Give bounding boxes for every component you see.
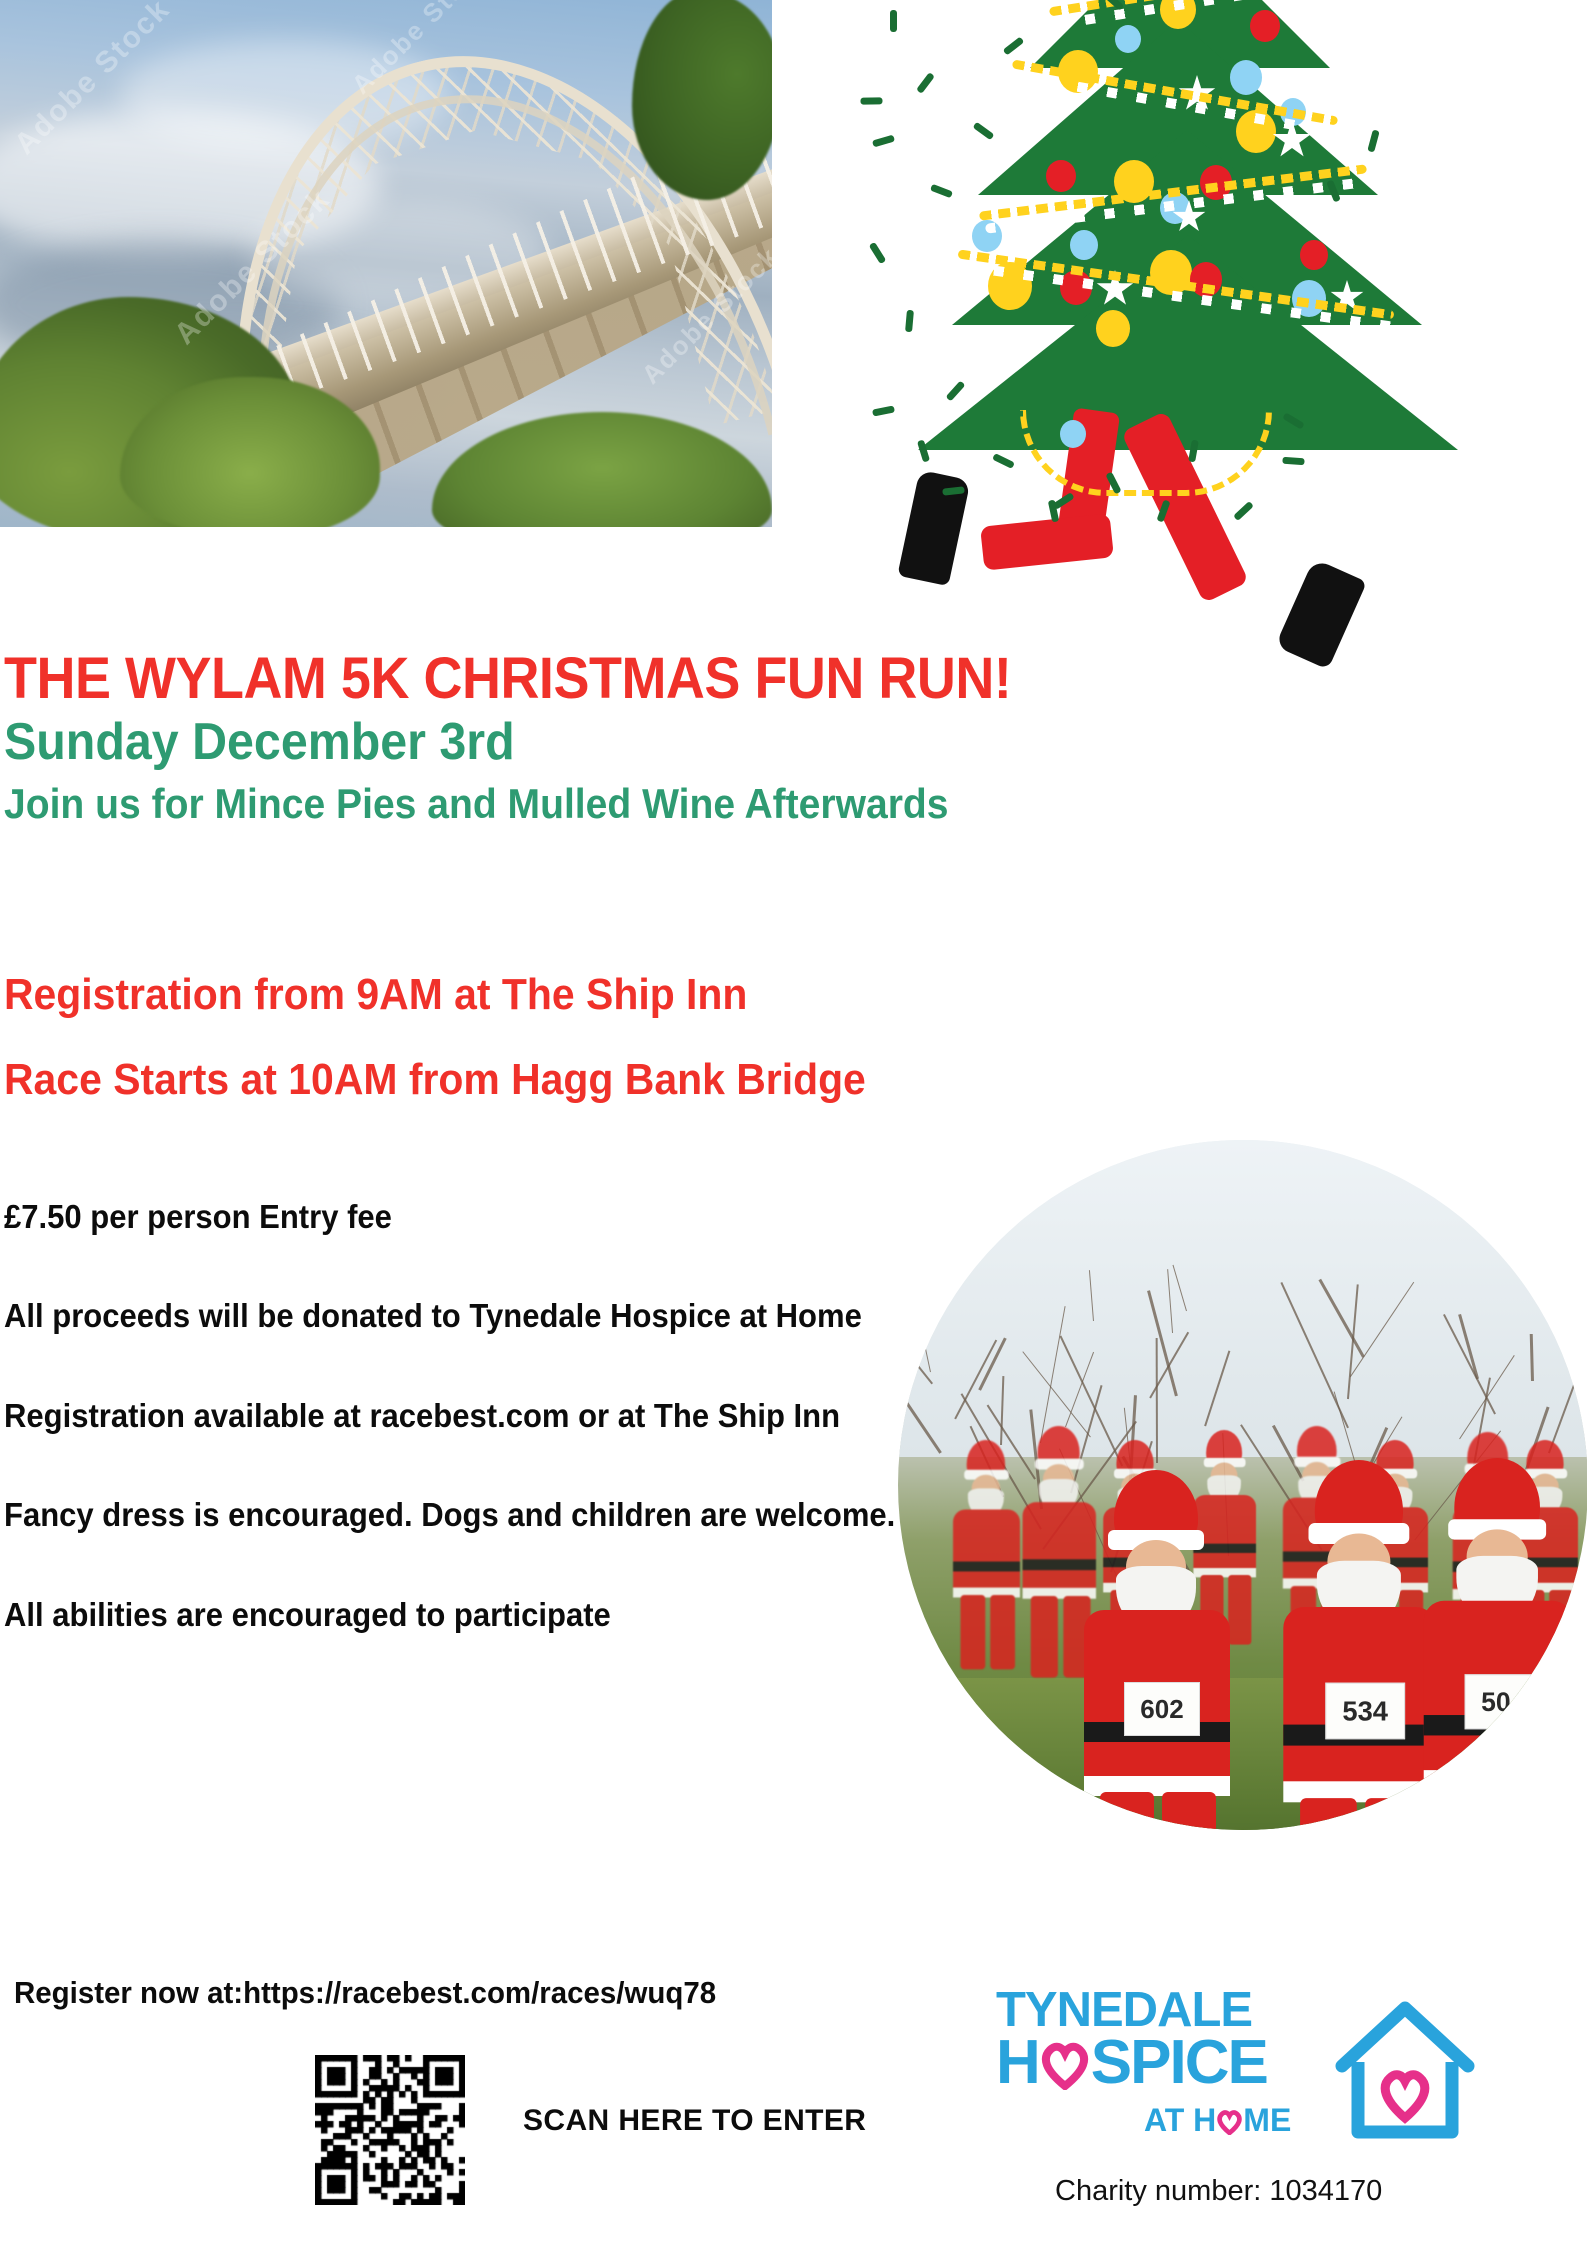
race-bib-number: 602 xyxy=(1140,1694,1183,1725)
confetti-fleck xyxy=(905,310,914,333)
confetti-fleck xyxy=(872,135,895,148)
tree-light-string xyxy=(1020,410,1272,496)
race-bib-number: 534 xyxy=(1342,1695,1388,1728)
logo-me-letters: ME xyxy=(1243,2102,1291,2138)
confetti-fleck xyxy=(872,405,895,416)
body-line-fancy-dress: Fancy dress is encouraged. Dogs and chil… xyxy=(4,1488,906,1541)
body-line-proceeds: All proceeds will be donated to Tynedale… xyxy=(4,1289,906,1342)
poster-tagline: Join us for Mince Pies and Mulled Wine A… xyxy=(4,780,948,828)
confetti-fleck xyxy=(973,122,995,141)
tynedale-hospice-logo: TYNEDALE HSPICE AT HME xyxy=(996,1988,1476,2158)
tree-bauble xyxy=(1070,230,1098,260)
tree-bauble xyxy=(1096,310,1130,347)
confetti-fleck xyxy=(890,10,897,32)
bare-branch xyxy=(1155,1338,1157,1463)
logo-line-at-home: AT HME xyxy=(1144,2106,1291,2135)
race-start-line: Race Starts at 10AM from Hagg Bank Bridg… xyxy=(4,1055,866,1105)
body-line-abilities: All abilities are encouraged to particip… xyxy=(4,1588,906,1641)
confetti-fleck xyxy=(1233,501,1254,521)
charity-number: Charity number: 1034170 xyxy=(1055,2175,1382,2208)
confetti-fleck xyxy=(860,97,882,104)
qr-code[interactable] xyxy=(315,2055,465,2205)
tree-foliage xyxy=(632,0,772,200)
logo-spice-letters: SPICE xyxy=(1091,2028,1267,2097)
confetti-fleck xyxy=(930,184,953,198)
scan-here-label: SCAN HERE TO ENTER xyxy=(523,2104,866,2138)
poster-date: Sunday December 3rd xyxy=(4,712,515,772)
race-bib-number: 504 xyxy=(1481,1686,1525,1718)
confetti-fleck xyxy=(869,242,887,264)
confetti-fleck xyxy=(992,453,1015,469)
body-line-registration: Registration available at racebest.com o… xyxy=(4,1389,906,1442)
heart-icon xyxy=(1039,2040,1091,2090)
santa-runners-photo: 602 534 504 xyxy=(898,1140,1587,1830)
confetti-fleck xyxy=(1003,36,1025,55)
tree-bauble xyxy=(1115,25,1141,53)
logo-at-h: AT H xyxy=(1144,2102,1216,2138)
bridge-photo: Adobe Stock Adobe Stock Adobe Stock Adob… xyxy=(0,0,772,527)
logo-line-tynedale: TYNEDALE xyxy=(996,1988,1252,2033)
register-url-line[interactable]: Register now at:https://racebest.com/rac… xyxy=(14,1975,716,2011)
bare-branch xyxy=(1529,1334,1533,1381)
heart-icon xyxy=(1216,2109,1243,2135)
tree-bauble xyxy=(1300,240,1328,270)
tree-bauble xyxy=(1230,60,1262,95)
poster-headline: THE WYLAM 5K CHRISTMAS FUN RUN! xyxy=(4,645,1011,712)
tree-shoe-right xyxy=(1275,558,1367,669)
confetti-fleck xyxy=(1282,457,1304,466)
poster-body-copy: £7.50 per person Entry fee All proceeds … xyxy=(4,1190,964,1641)
house-icon xyxy=(1330,1992,1480,2142)
confetti-fleck xyxy=(1367,129,1379,152)
tree-leg-front-shin xyxy=(980,513,1114,570)
logo-line-hospice: HSPICE xyxy=(996,2034,1267,2091)
confetti-fleck xyxy=(916,72,935,94)
running-christmas-tree-icon xyxy=(860,0,1587,500)
body-line-entry-fee: £7.50 per person Entry fee xyxy=(4,1190,906,1243)
confetti-fleck xyxy=(946,380,966,401)
logo-h-letter: H xyxy=(996,2028,1039,2097)
registration-time-line: Registration from 9AM at The Ship Inn xyxy=(4,970,747,1020)
